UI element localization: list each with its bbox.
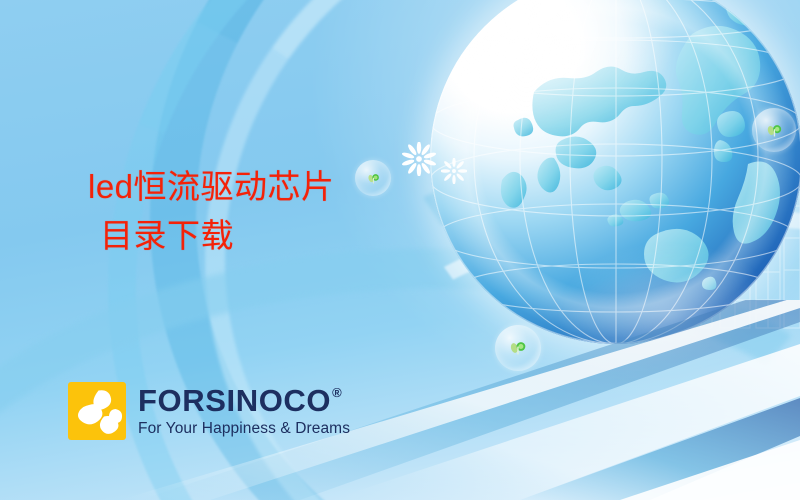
headline-line-2: 目录下载 bbox=[88, 215, 418, 258]
bubble-with-leaf-2 bbox=[495, 325, 541, 371]
globe-graphic bbox=[430, 0, 800, 344]
leaf-sprout-icon bbox=[764, 120, 785, 141]
flower-sparkle-icon-small bbox=[441, 158, 467, 184]
logo-mark-square bbox=[68, 382, 126, 440]
logo-wordmark: FORSINOCO ® bbox=[138, 385, 350, 416]
registered-trademark-symbol: ® bbox=[332, 386, 342, 399]
logo-tagline: For Your Happiness & Dreams bbox=[138, 420, 350, 438]
logo-wordmark-text: FORSINOCO bbox=[138, 385, 331, 416]
four-petal-pinwheel-icon bbox=[68, 382, 126, 440]
bubble-with-leaf-3 bbox=[752, 108, 796, 152]
headline-line-1: led恒流驱动芯片 bbox=[88, 166, 418, 209]
leaf-sprout-icon bbox=[507, 337, 529, 359]
promo-banner: led恒流驱动芯片 目录下载 FORSINOCO ® For Your Happ… bbox=[0, 0, 800, 500]
company-logo: FORSINOCO ® For Your Happiness & Dreams bbox=[68, 382, 350, 440]
logo-text-block: FORSINOCO ® For Your Happiness & Dreams bbox=[138, 385, 350, 438]
headline-text: led恒流驱动芯片 目录下载 bbox=[88, 166, 418, 258]
